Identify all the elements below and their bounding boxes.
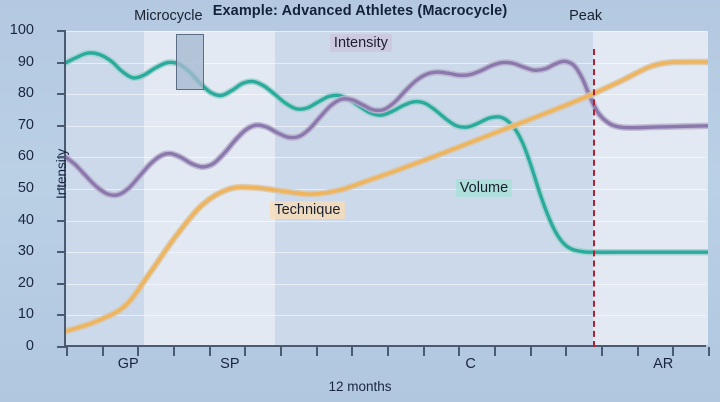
series-lines [66,31,708,347]
series-label-technique: Technique [270,201,344,219]
x-tick-mark [173,347,175,356]
y-tick-mark [57,251,66,253]
y-tick-label: 70 [0,117,34,133]
x-tick-mark [137,347,139,356]
x-tick-mark [637,347,639,356]
x-tick-mark [423,347,425,356]
chart-root: Example: Advanced Athletes (Macrocycle) … [0,0,720,402]
x-category-gp: GP [118,356,139,372]
plot-area: Intensity 0102030405060708090100 [64,31,706,347]
x-tick-mark [601,347,603,356]
series-line-technique [66,62,708,331]
series-halo-technique [66,62,708,331]
y-tick-label: 60 [0,148,34,164]
y-tick-mark [57,125,66,127]
annotation-microcycle: Microcycle [134,8,202,24]
x-tick-mark [66,347,68,356]
chart-title: Example: Advanced Athletes (Macrocycle) [0,3,720,19]
y-tick-mark [57,93,66,95]
x-tick-mark [530,347,532,356]
peak-marker-line [593,49,595,347]
x-tick-mark [209,347,211,356]
series-label-volume: Volume [456,179,512,197]
y-tick-label: 100 [0,22,34,38]
y-tick-label: 50 [0,180,34,196]
y-tick-label: 0 [0,338,34,354]
y-tick-mark [57,62,66,64]
x-tick-mark [672,347,674,356]
annotation-peak: Peak [569,8,602,24]
y-tick-mark [57,283,66,285]
x-tick-mark [708,347,710,356]
x-tick-mark [565,347,567,356]
x-tick-mark [244,347,246,356]
series-label-intensity: Intensity [330,34,392,52]
y-tick-label: 20 [0,275,34,291]
microcycle-box [176,34,205,90]
y-tick-label: 10 [0,306,34,322]
x-axis-title: 12 months [0,379,720,394]
x-category-ar: AR [653,356,673,372]
x-tick-mark [280,347,282,356]
x-category-sp: SP [220,356,239,372]
x-tick-mark [351,347,353,356]
x-tick-mark [316,347,318,356]
y-tick-mark [57,314,66,316]
x-tick-mark [494,347,496,356]
x-tick-mark [458,347,460,356]
x-tick-mark [387,347,389,356]
y-tick-label: 80 [0,85,34,101]
y-tick-label: 40 [0,212,34,228]
y-tick-label: 30 [0,243,34,259]
y-tick-mark [57,30,66,32]
x-tick-mark [102,347,104,356]
y-tick-mark [57,220,66,222]
y-tick-mark [57,188,66,190]
y-tick-mark [57,156,66,158]
y-tick-mark [57,346,66,348]
x-category-c: C [465,356,475,372]
y-tick-label: 90 [0,54,34,70]
